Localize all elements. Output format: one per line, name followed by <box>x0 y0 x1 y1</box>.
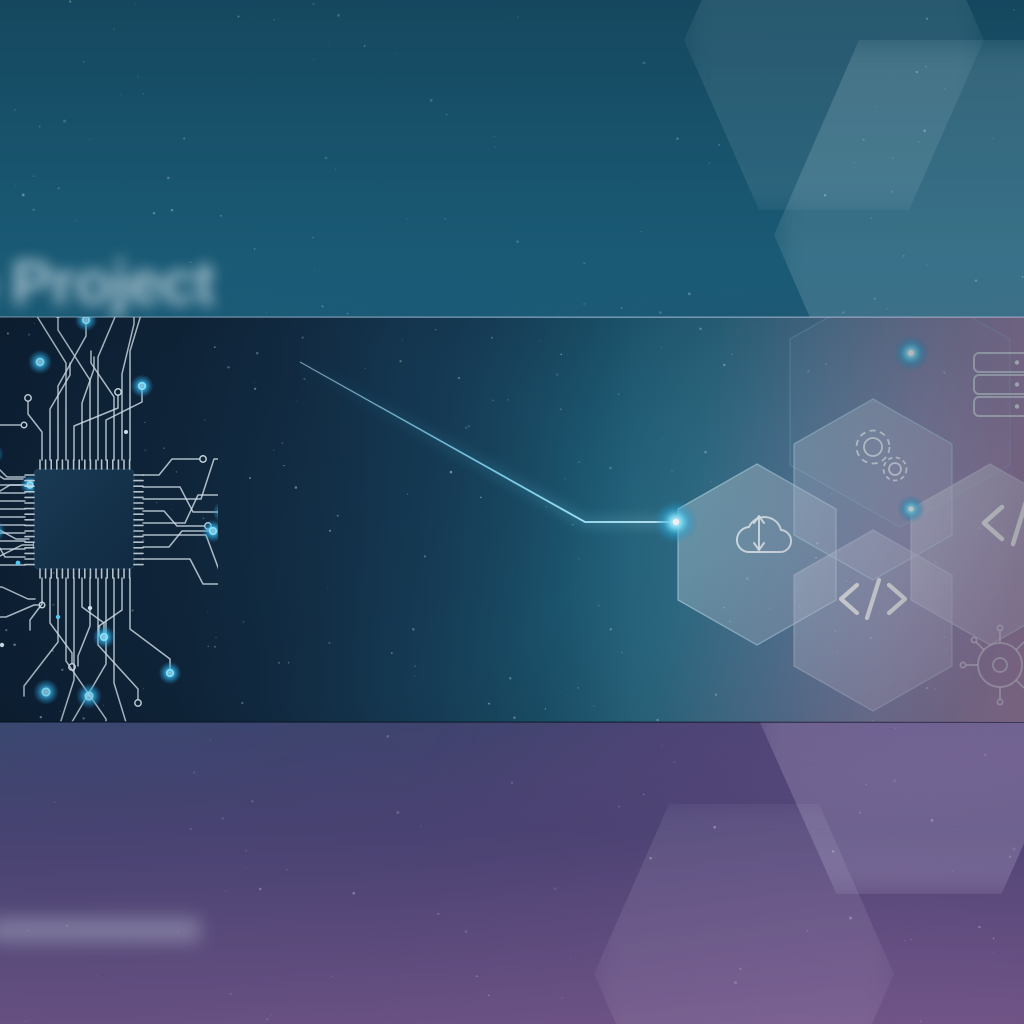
background-ghost-text-bar <box>0 918 200 942</box>
screenshot-canvas: o Project <box>0 0 1024 1024</box>
banner-vignette <box>0 317 1024 722</box>
banner-bottom-edge <box>0 721 1024 722</box>
background-ghost-title: o Project <box>0 248 214 319</box>
banner-top-edge <box>0 317 1024 318</box>
hero-banner: Argo Project WORKING Best Practices for … <box>0 317 1024 722</box>
